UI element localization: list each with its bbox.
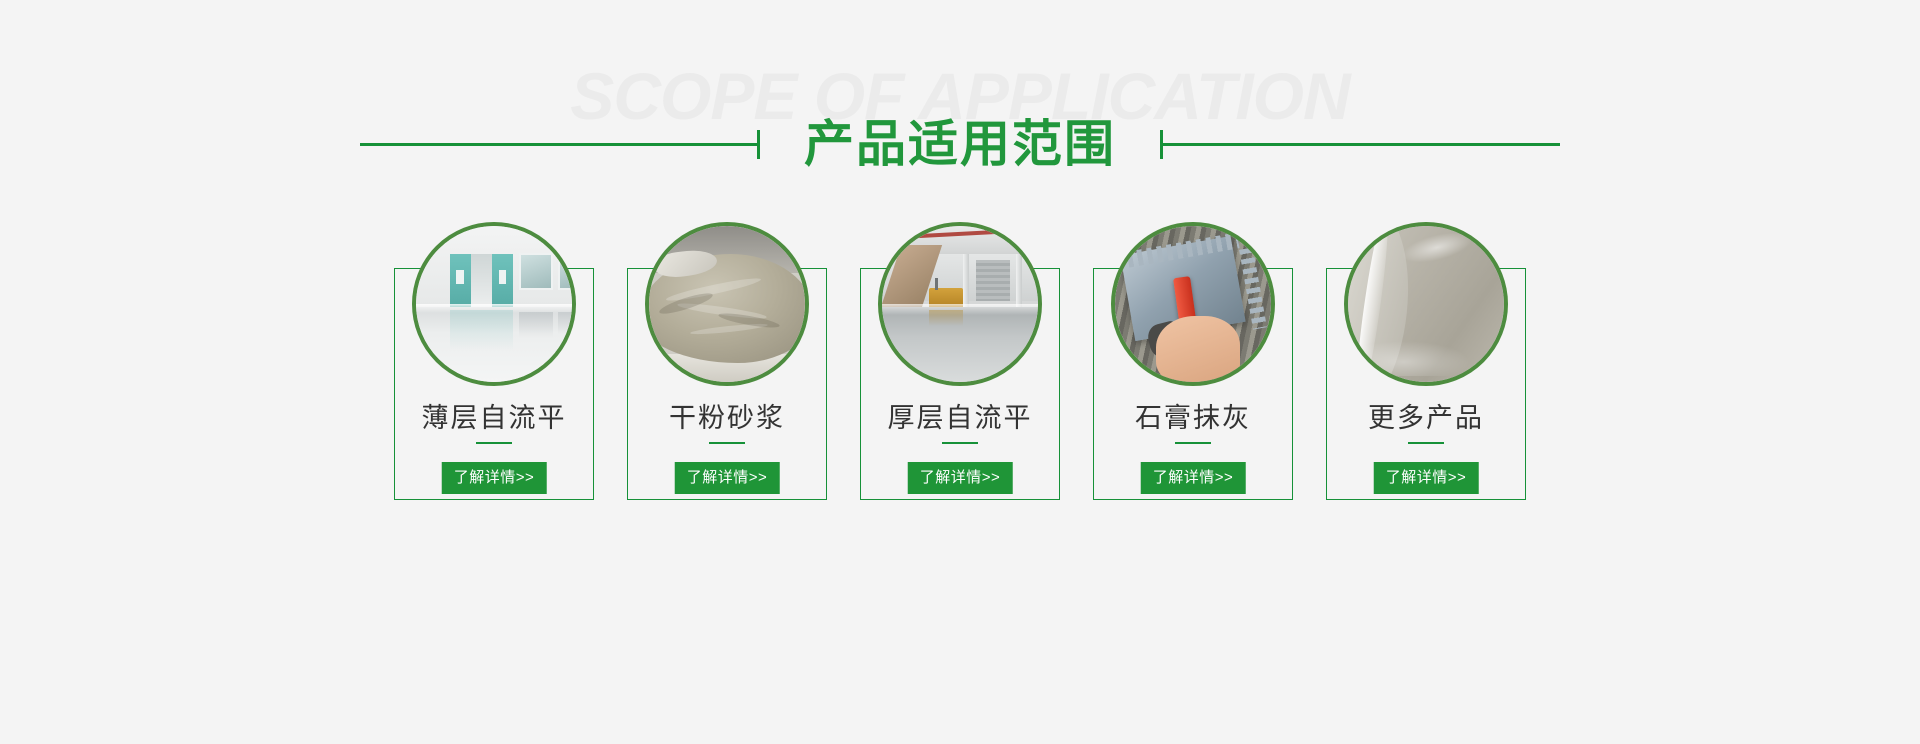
card-title: 干粉砂浆 (627, 396, 827, 435)
epoxy-floor-illustration (416, 226, 572, 382)
application-card[interactable]: 石膏抹灰 了解详情>> (1093, 200, 1293, 540)
card-title: 更多产品 (1326, 396, 1526, 435)
card-divider (1175, 442, 1211, 444)
section-header: SCOPE OF APPLICATION 产品适用范围 (0, 0, 1920, 200)
title-row: 产品适用范围 (0, 104, 1920, 184)
card-title: 石膏抹灰 (1093, 396, 1293, 435)
card-title: 厚层自流平 (860, 396, 1060, 435)
glossy-surface-illustration (1348, 226, 1504, 382)
card-photo (1111, 222, 1275, 386)
trowel-plastering-illustration (1115, 226, 1271, 382)
page-title: 产品适用范围 (760, 119, 1160, 169)
card-divider (1408, 442, 1444, 444)
rule-left-tick (757, 130, 760, 159)
application-cards: 薄层自流平 了解详情>> 干粉砂浆 了解详情>> (0, 200, 1920, 560)
warehouse-floor-illustration (882, 226, 1038, 382)
learn-more-button[interactable]: 了解详情>> (1374, 462, 1479, 494)
application-card[interactable]: 厚层自流平 了解详情>> (860, 200, 1060, 540)
card-photo (1344, 222, 1508, 386)
application-card[interactable]: 薄层自流平 了解详情>> (394, 200, 594, 540)
card-photo (878, 222, 1042, 386)
learn-more-button[interactable]: 了解详情>> (908, 462, 1013, 494)
application-card[interactable]: 干粉砂浆 了解详情>> (627, 200, 827, 540)
rule-left (360, 143, 760, 146)
learn-more-button[interactable]: 了解详情>> (442, 462, 547, 494)
card-photo (412, 222, 576, 386)
learn-more-button[interactable]: 了解详情>> (675, 462, 780, 494)
rule-right (1160, 143, 1560, 146)
card-photo (645, 222, 809, 386)
mortar-bag-illustration (649, 226, 805, 382)
card-title: 薄层自流平 (394, 396, 594, 435)
learn-more-button[interactable]: 了解详情>> (1141, 462, 1246, 494)
application-card[interactable]: 更多产品 了解详情>> (1326, 200, 1526, 540)
card-divider (476, 442, 512, 444)
rule-right-tick (1160, 130, 1163, 159)
card-divider (709, 442, 745, 444)
card-divider (942, 442, 978, 444)
